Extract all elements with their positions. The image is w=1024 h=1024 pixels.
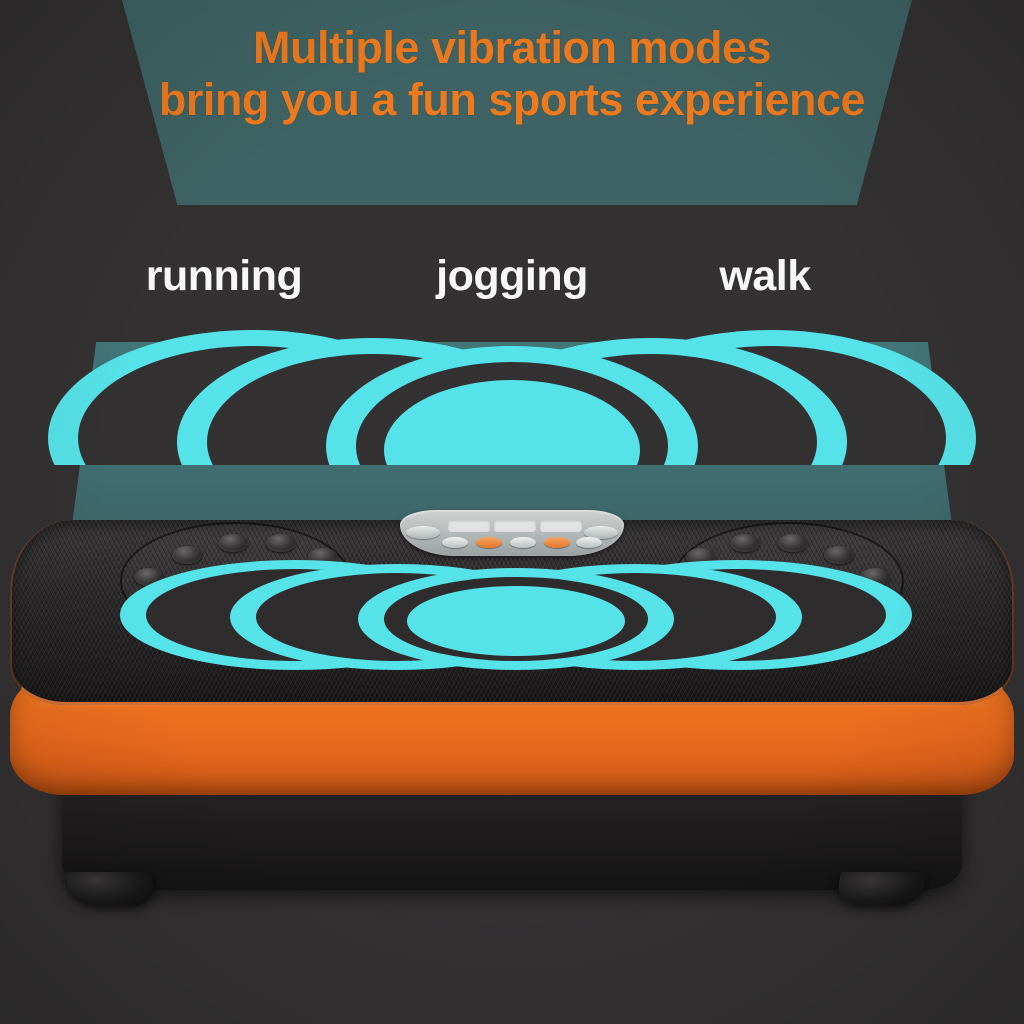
machine-foot-right [835,872,927,906]
headline: Multiple vibration modes bring you a fun… [0,24,1024,123]
wave-rings-bottom-svg [120,560,912,670]
display-screen [540,520,582,532]
panel-button[interactable] [442,537,468,548]
grip-dot [778,534,808,552]
machine-foot-left [65,872,157,906]
headline-line-2: bring you a fun sports experience [0,76,1024,124]
grip-dot [218,534,248,552]
vibration-wave-bottom [120,560,912,670]
mode-label-jogging: jogging [436,252,588,301]
headline-line-1: Multiple vibration modes [0,24,1024,72]
panel-button-accent[interactable] [476,537,502,548]
panel-button-accent[interactable] [544,537,570,548]
wave-rings-top-group [48,330,976,465]
display-screen [494,520,536,532]
panel-button-left[interactable] [406,526,440,539]
mode-label-running: running [146,252,303,301]
mode-label-walk: walk [719,252,810,301]
panel-button[interactable] [510,537,536,548]
panel-button[interactable] [576,537,602,548]
wave-rings-top-svg [48,330,976,465]
control-panel[interactable] [400,510,624,556]
product-marketing-image: Multiple vibration modes bring you a fun… [0,0,1024,1024]
wave-rings-bottom-group [120,560,912,670]
display-screen [448,520,490,532]
grip-dot [266,534,296,552]
grip-dot [730,534,760,552]
vibration-wave-top [48,330,976,465]
